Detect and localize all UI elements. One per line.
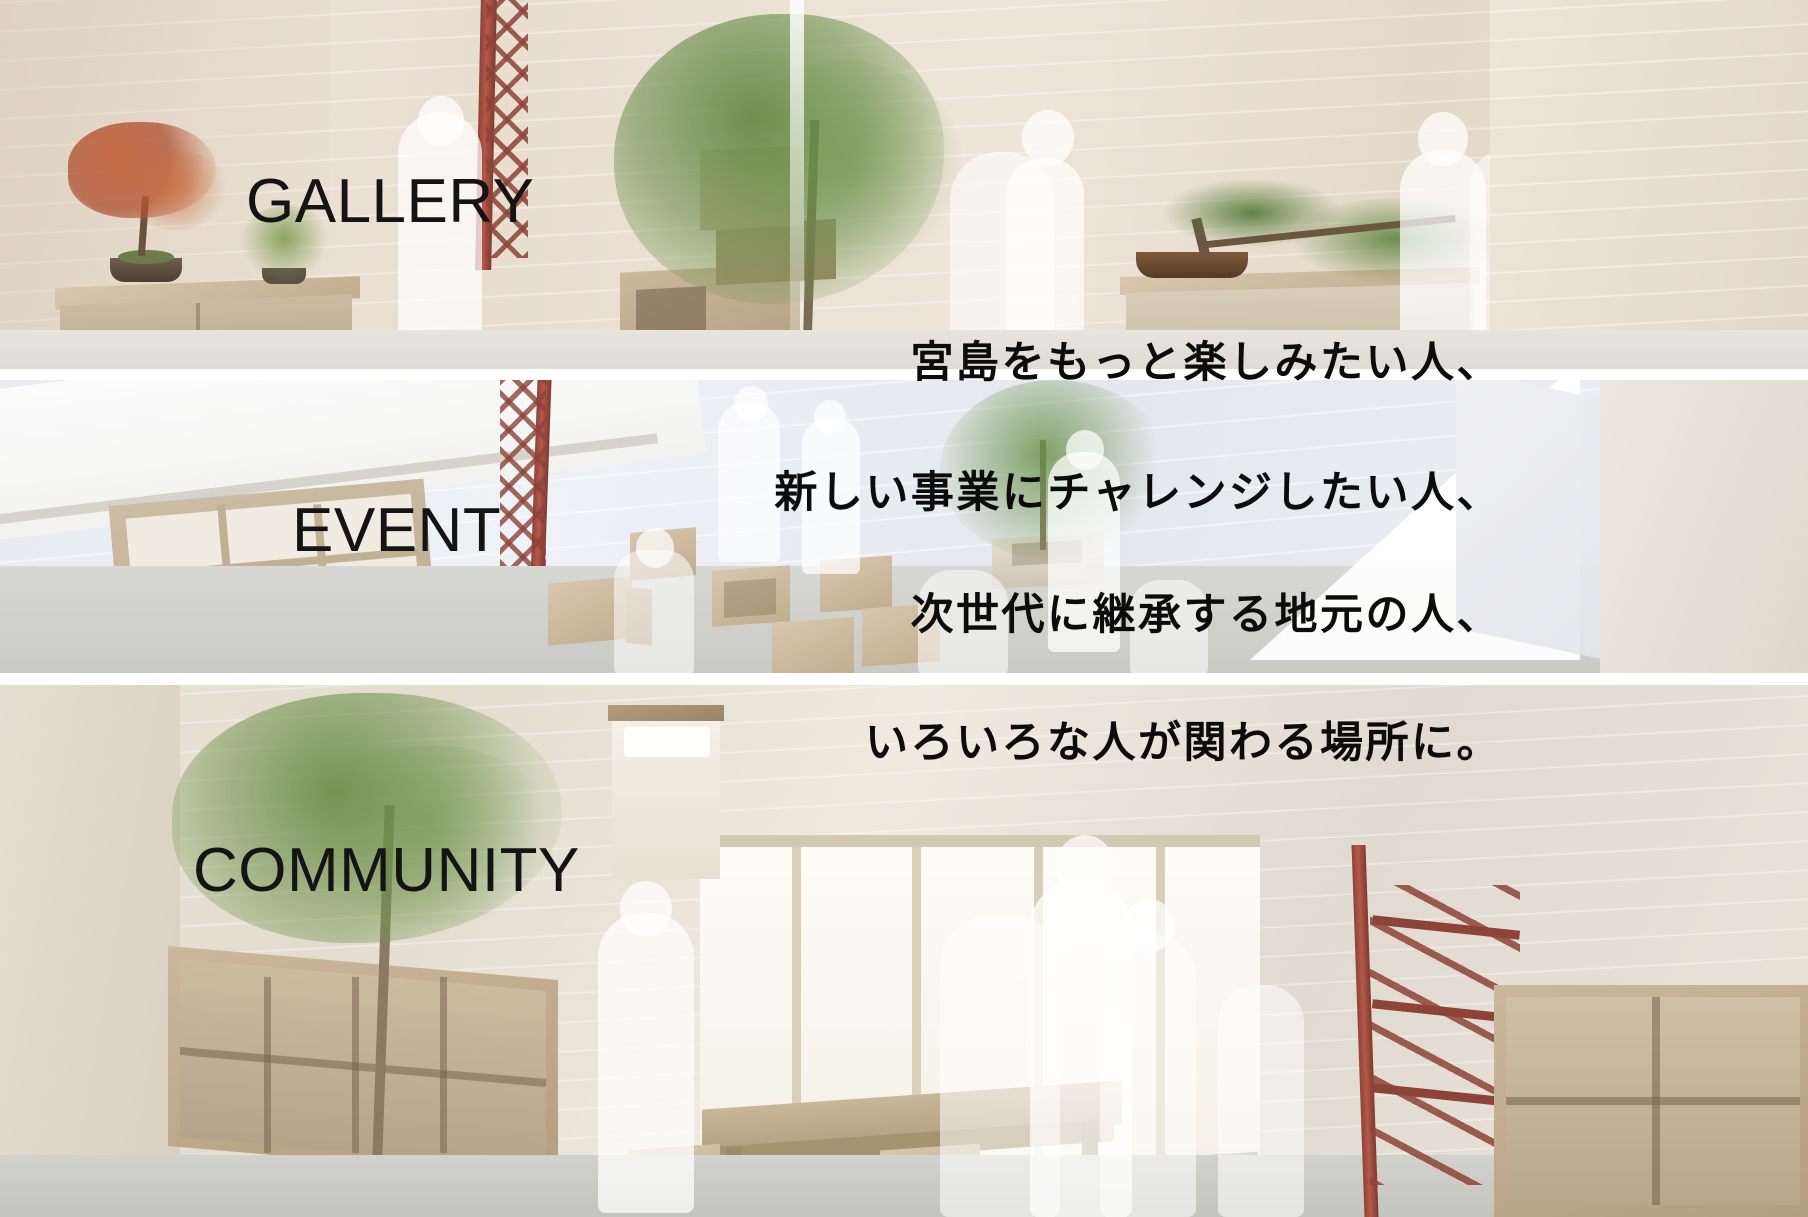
pine-bonsai-pot [1136,252,1248,278]
gallery-right-wall-courses [1490,0,1808,371]
community-ghost-person-1-head [620,881,672,937]
community-window-head [700,835,1260,847]
community-shelf-divider-1 [264,977,271,1154]
event-ghost-person-3-head [636,528,674,568]
community-ghost-person-5 [1218,985,1304,1217]
japanese-copy-line-4: いろいろな人が関わる場所に。 [0,708,1502,770]
community-ghost-person-4-head [1124,899,1174,953]
community-ghost-person-4 [1100,935,1196,1217]
ghost-person-1-head [418,96,464,146]
event-right-wall [1600,380,1808,676]
poster-canvas: GALLERY EVENT COMMUNITY 宮島をもっと楽しみたい人、 新し… [0,0,1808,1217]
japanese-copy-line-1: 宮島をもっと楽しみたい人、 [0,328,1502,390]
event-ghost-person-1-head [734,386,768,422]
band-label-gallery: GALLERY [246,171,534,233]
community-ghost-person-1 [598,913,694,1213]
event-ghost-person-2-head [814,400,846,434]
maple-bonsai-moss [118,250,174,264]
ghost-person-4-head [1418,112,1468,166]
gallery-glass-partition [790,0,804,330]
japanese-copy-line-3: 次世代に継承する地元の人、 [0,580,1502,642]
community-right-shelf-hz [1506,1097,1800,1105]
maple-bonsai-foliage-2 [120,150,230,230]
gallery-tree-canopy-2 [724,60,964,280]
band-label-community: COMMUNITY [193,840,580,902]
japanese-copy-line-2: 新しい事業にチャレンジしたい人、 [0,458,1502,520]
community-shelf-divider-3 [440,977,447,1154]
